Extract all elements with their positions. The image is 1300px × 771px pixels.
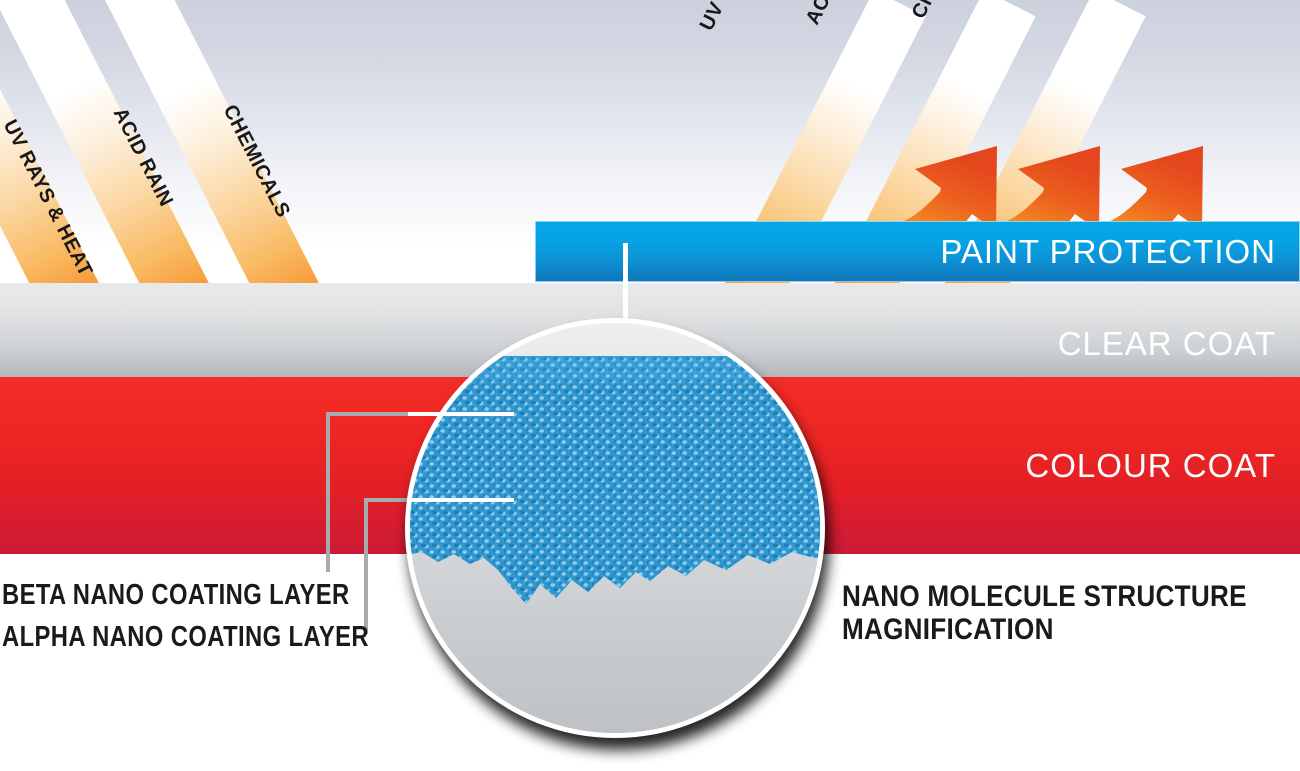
layer-label-clear-coat: CLEAR COAT [1058,297,1300,363]
magnification-caption-line2: MAGNIFICATION [842,613,1247,646]
annotation-alpha-nano-coating-layer: ALPHA NANO COATING LAYER [2,621,369,654]
layer-paint-protection: PAINT PROTECTION [535,221,1300,282]
nano-molecule-magnifier [405,318,833,746]
magnification-caption-line1: NANO MOLECULE STRUCTURE [842,580,1247,613]
annotation-magnification-caption: NANO MOLECULE STRUCTURE MAGNIFICATION [842,580,1247,646]
nano-molecule-mass [405,356,825,648]
magnifier-lens [405,318,825,738]
layer-label-colour-coat: COLOUR COAT [1025,447,1300,485]
nano-coating-diagram: UV RAYS & HEAT ACID RAIN CHEMICALS UV RA… [0,0,1300,771]
layer-label-paint-protection: PAINT PROTECTION [940,233,1300,271]
annotation-beta-nano-coating-layer: BETA NANO COATING LAYER [2,579,350,612]
